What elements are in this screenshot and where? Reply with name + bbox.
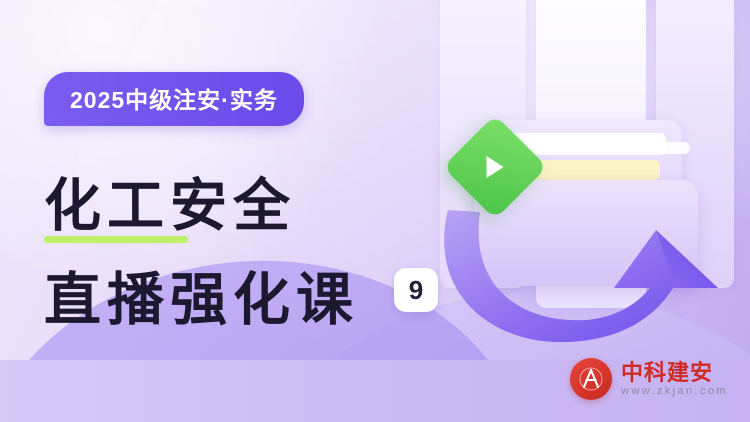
brand-logo: 中科建安 www.zkjan.com [570, 358, 728, 400]
brand-name-cn: 中科建安 [621, 360, 728, 385]
poster-title-line-2: 直播强化课 [44, 254, 359, 336]
brand-mark-icon [570, 358, 612, 400]
course-poster: 2025中级注安·实务 化工安全 直播强化课 9 中科建安 www.zkjan.… [0, 0, 750, 422]
curved-arrow-icon [418, 170, 738, 370]
episode-number-badge: 9 [394, 268, 438, 312]
play-triangle-icon [487, 156, 504, 178]
poster-title-line-1: 化工安全 [44, 160, 296, 242]
brand-texts: 中科建安 www.zkjan.com [621, 360, 728, 398]
logo-glyph-icon [578, 366, 604, 392]
course-category-pill: 2025中级注安·实务 [44, 72, 304, 126]
brand-url: www.zkjan.com [621, 385, 728, 398]
